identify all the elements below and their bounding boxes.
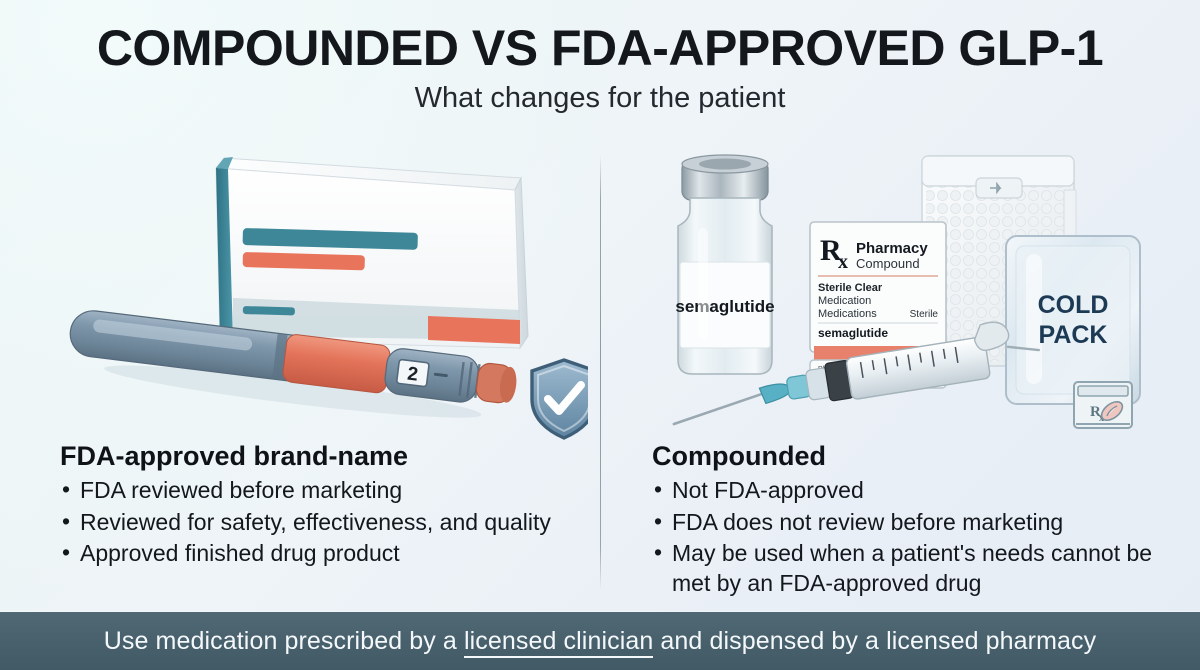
footer-lead: Use medication prescribed by a <box>104 627 464 655</box>
rx-line-2: Medication <box>818 295 871 307</box>
infographic-canvas: COMPOUNDED VS FDA-APPROVED GLP-1 What ch… <box>0 0 1200 670</box>
list-item: • FDA does not review before marketing <box>652 508 1172 537</box>
right-column: Compounded • Not FDA-approved • FDA does… <box>652 440 1172 598</box>
footer-tail: and dispensed by a licensed pharmacy <box>653 627 1096 655</box>
rx-line-3-right: Sterile <box>910 309 939 320</box>
medication-carton-icon <box>216 157 528 348</box>
bullet-glyph: • <box>62 475 70 504</box>
list-item: • May be used when a patient's needs can… <box>652 539 1172 598</box>
footer-banner: Use medication prescribed by a licensed … <box>0 612 1200 670</box>
rx-subtitle: Compound <box>856 256 920 271</box>
vial-label-text: semaglutide <box>675 297 774 316</box>
header: COMPOUNDED VS FDA-APPROVED GLP-1 What ch… <box>0 22 1200 115</box>
rx-line-3: Medications <box>818 308 877 320</box>
page-title: COMPOUNDED VS FDA-APPROVED GLP-1 <box>0 22 1200 75</box>
right-bullet-list: • Not FDA-approved • FDA does not review… <box>652 476 1172 598</box>
rx-subscript: x <box>838 251 848 273</box>
list-item-label: FDA does not review before marketing <box>672 509 1063 535</box>
cold-pack-line-2: PACK <box>1039 321 1108 349</box>
page-subtitle: What changes for the patient <box>0 83 1200 115</box>
footer-underlined-phrase: licensed clinician <box>464 627 653 658</box>
bullet-glyph: • <box>62 538 70 567</box>
bullet-glyph: • <box>654 507 662 536</box>
list-item: • Not FDA-approved <box>652 476 1172 505</box>
left-bullet-list: • FDA reviewed before marketing • Review… <box>60 476 580 568</box>
bullet-glyph: • <box>62 507 70 536</box>
rx-line-1: Sterile Clear <box>818 282 883 294</box>
list-item-label: May be used when a patient's needs canno… <box>672 540 1152 595</box>
list-item-label: FDA reviewed before marketing <box>80 477 402 503</box>
compounded-artwork: COLD PACK semaglutide R x Pharmacy Compo… <box>650 150 1180 440</box>
list-item: • FDA reviewed before marketing <box>60 476 580 505</box>
left-illustration: 2 <box>28 140 588 440</box>
list-item-label: Not FDA-approved <box>672 477 864 503</box>
rx-title: Pharmacy <box>856 240 928 257</box>
pharmacy-storefront-icon: R x <box>1074 382 1132 428</box>
list-item: • Reviewed for safety, effectiveness, an… <box>60 508 580 537</box>
cold-pack-icon: COLD PACK <box>1006 236 1140 404</box>
semaglutide-vial-icon: semaglutide <box>675 155 774 374</box>
left-column-heading: FDA-approved brand-name <box>60 440 580 472</box>
left-column: FDA-approved brand-name • FDA reviewed b… <box>60 440 580 569</box>
shield-check-icon <box>532 360 588 438</box>
rx-drug-name: semaglutide <box>818 326 888 340</box>
column-divider <box>600 155 601 590</box>
list-item-label: Approved finished drug product <box>80 540 400 566</box>
fda-approved-artwork: 2 <box>28 140 588 440</box>
right-illustration: COLD PACK semaglutide R x Pharmacy Compo… <box>650 150 1180 440</box>
bullet-glyph: • <box>654 538 662 567</box>
bullet-glyph: • <box>654 475 662 504</box>
list-item-label: Reviewed for safety, effectiveness, and … <box>80 509 551 535</box>
right-column-heading: Compounded <box>652 440 1172 472</box>
footer-text: Use medication prescribed by a licensed … <box>104 627 1097 656</box>
cold-pack-line-1: COLD <box>1038 291 1109 319</box>
list-item: • Approved finished drug product <box>60 539 580 568</box>
